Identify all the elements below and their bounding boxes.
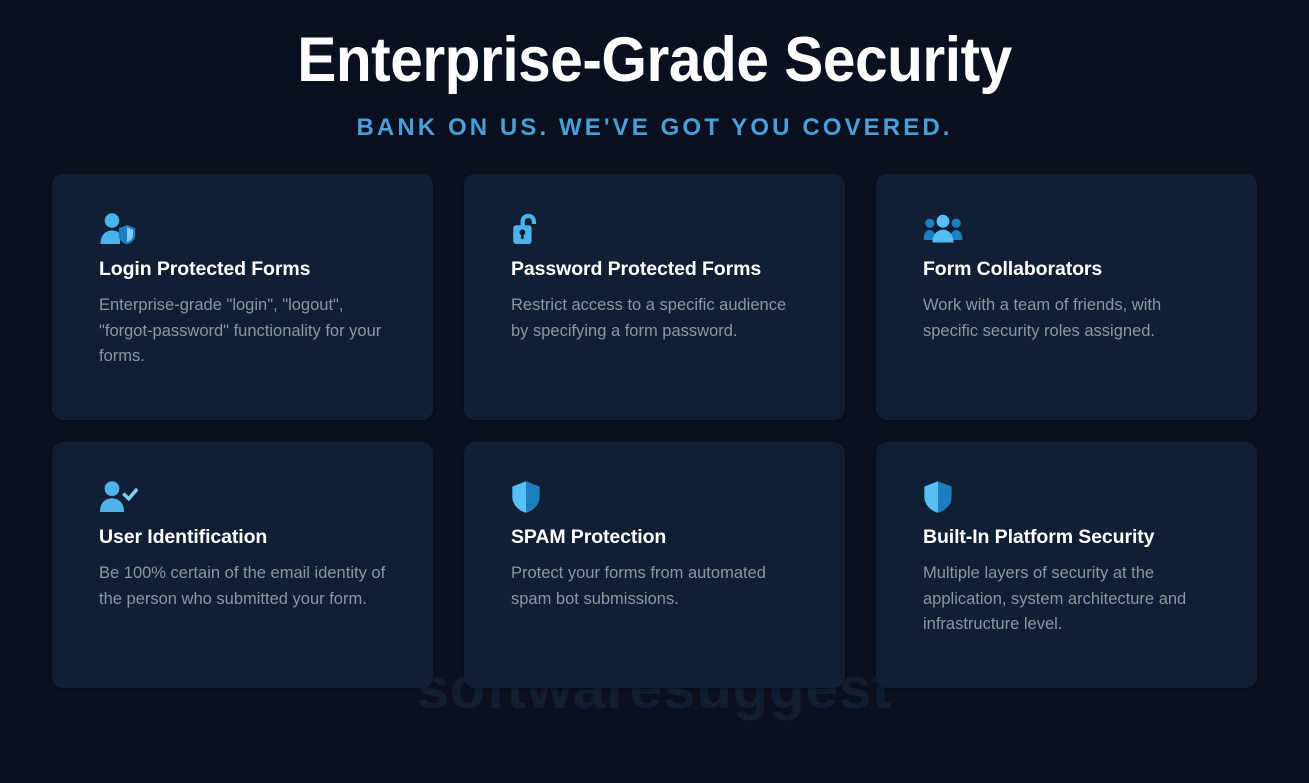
shield-icon (511, 480, 798, 514)
feature-title: Form Collaborators (923, 258, 1210, 281)
feature-description: Multiple layers of security at the appli… (923, 561, 1210, 638)
feature-card-spam-protection[interactable]: SPAM Protection Protect your forms from … (464, 442, 845, 688)
feature-card-user-identification[interactable]: User Identification Be 100% certain of t… (52, 442, 433, 688)
feature-card-form-collaborators[interactable]: Form Collaborators Work with a team of f… (876, 174, 1257, 420)
feature-title: Login Protected Forms (99, 258, 386, 281)
users-group-icon (923, 212, 1210, 246)
user-shield-icon (99, 212, 386, 246)
user-check-icon (99, 480, 386, 514)
page-subtitle: Bank on us. We've got you covered. (0, 114, 1309, 142)
feature-card-built-in-platform-security[interactable]: Built-In Platform Security Multiple laye… (876, 442, 1257, 688)
feature-description: Protect your forms from automated spam b… (511, 561, 798, 612)
feature-description: Restrict access to a specific audience b… (511, 293, 798, 344)
feature-grid: Login Protected Forms Enterprise-grade "… (52, 142, 1257, 688)
feature-title: SPAM Protection (511, 526, 798, 549)
unlock-icon (511, 212, 798, 246)
feature-description: Enterprise-grade "login", "logout", "for… (99, 293, 386, 370)
feature-title: Built-In Platform Security (923, 526, 1210, 549)
feature-title: Password Protected Forms (511, 258, 798, 281)
feature-card-login-protected-forms[interactable]: Login Protected Forms Enterprise-grade "… (52, 174, 433, 420)
feature-card-password-protected-forms[interactable]: Password Protected Forms Restrict access… (464, 174, 845, 420)
feature-title: User Identification (99, 526, 386, 549)
page-header: Enterprise-Grade Security Bank on us. We… (0, 0, 1309, 142)
feature-description: Be 100% certain of the email identity of… (99, 561, 386, 612)
page-title: Enterprise-Grade Security (46, 26, 1263, 94)
shield-icon (923, 480, 1210, 514)
feature-description: Work with a team of friends, with specif… (923, 293, 1210, 344)
